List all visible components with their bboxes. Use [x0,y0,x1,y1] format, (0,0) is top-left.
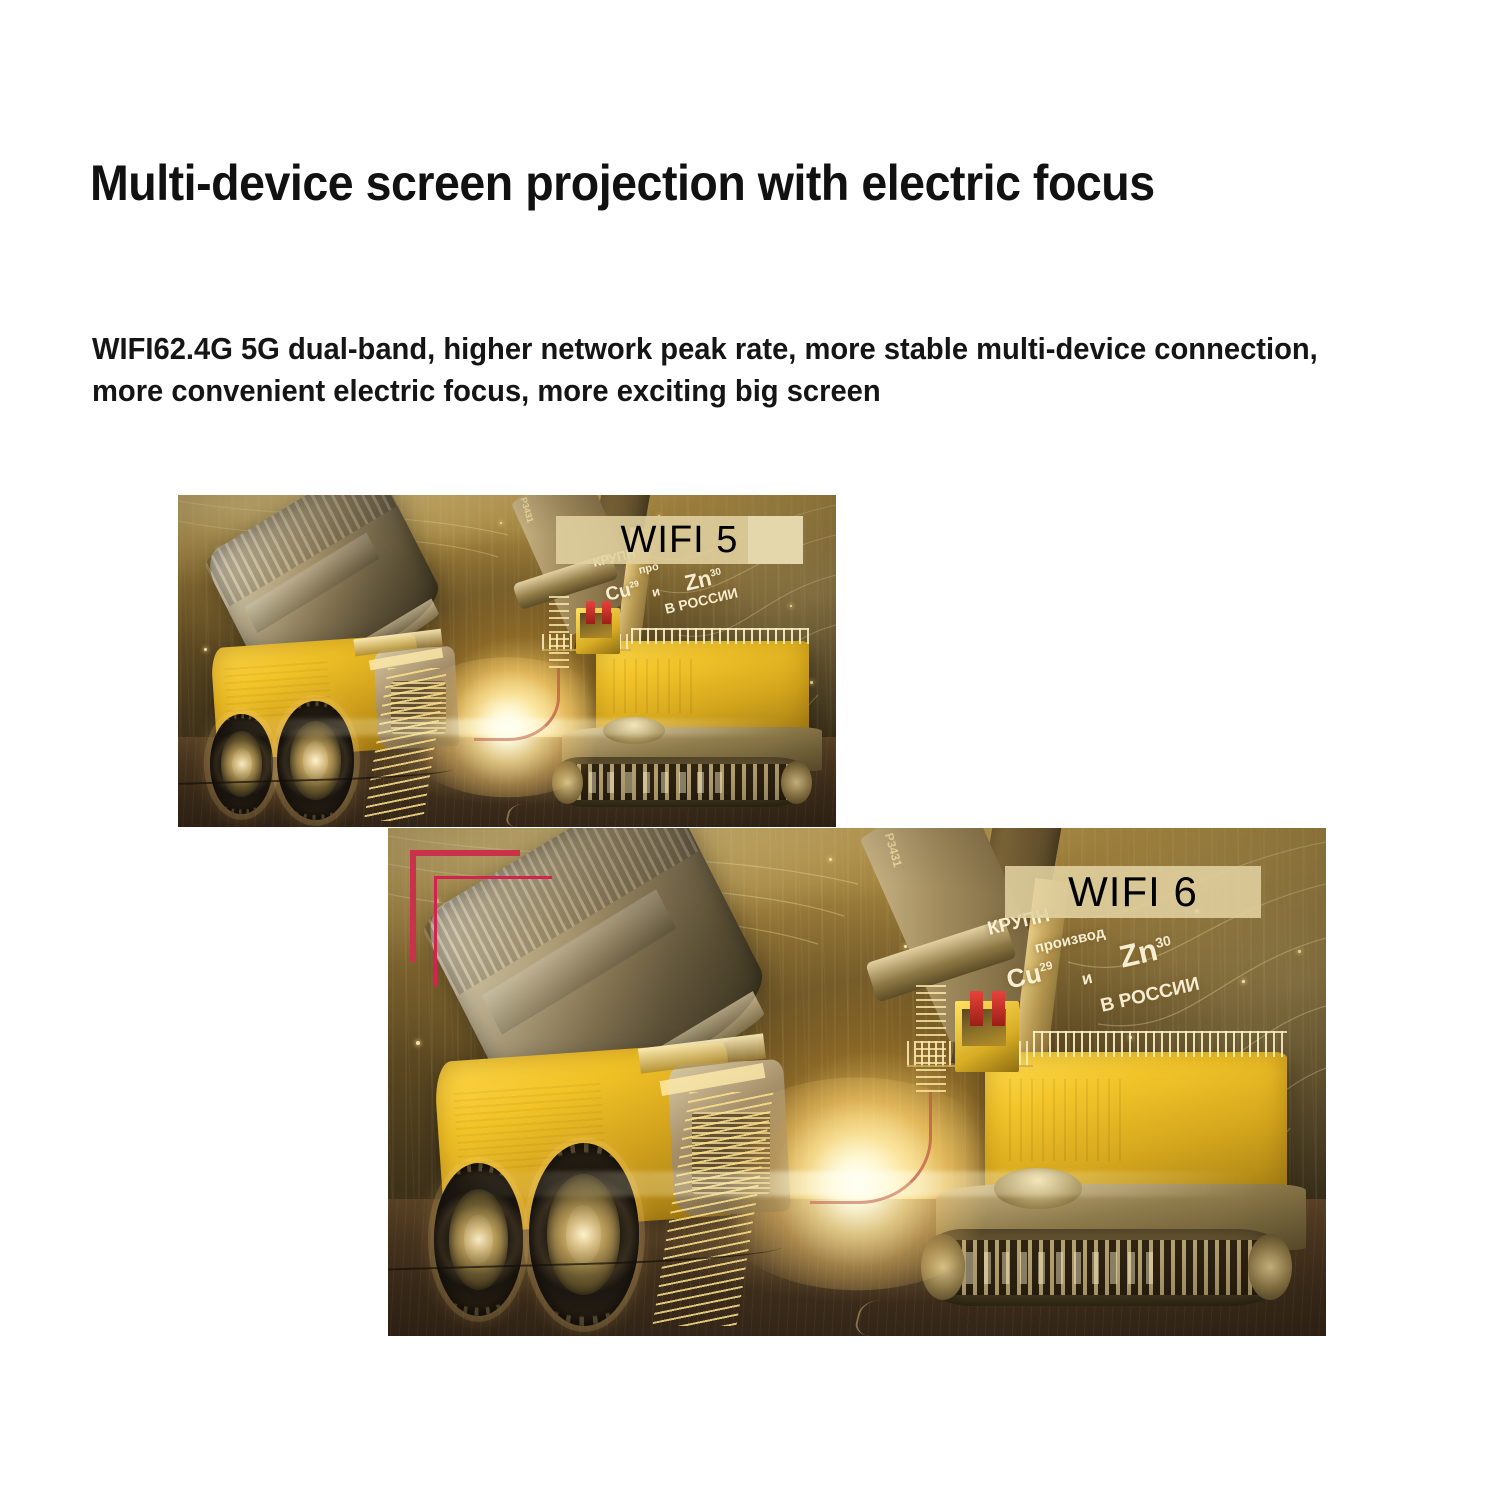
excavator-ladder [549,595,570,668]
warning-light-left [586,601,595,624]
excavator-slew-ring [994,1168,1082,1209]
excavator-roof-rail [1033,1031,1287,1056]
excavator-ladder [916,980,945,1092]
truck-wheel-front [529,1143,639,1326]
excavator-track [555,757,808,807]
truck-wheel-rear [434,1163,523,1315]
page-subtitle: WIFI62.4G 5G dual-band, higher network p… [92,328,1370,412]
excavator-track [926,1229,1287,1305]
truck-wheel-front [277,701,354,821]
track-idler-rear [1248,1234,1292,1300]
excavator-slew-ring [603,717,665,744]
truck-wheel-rear [210,714,273,814]
wifi6-badge: WIFI 6 [1005,866,1261,918]
excavator-cab [955,1001,1018,1072]
wifi5-badge: WIFI 5 [556,516,803,564]
track-idler-front [921,1234,965,1300]
page-title: Multi-device screen projection with elec… [90,152,1234,214]
excavator-roof-rail [631,628,809,645]
track-idler-front [552,761,583,804]
excavator-cab [576,608,620,654]
track-idler-rear [781,761,812,804]
warning-light-left [970,991,983,1027]
warning-light-right [602,601,611,624]
promo-page: Multi-device screen projection with elec… [0,0,1500,1500]
warning-light-right [992,991,1005,1027]
